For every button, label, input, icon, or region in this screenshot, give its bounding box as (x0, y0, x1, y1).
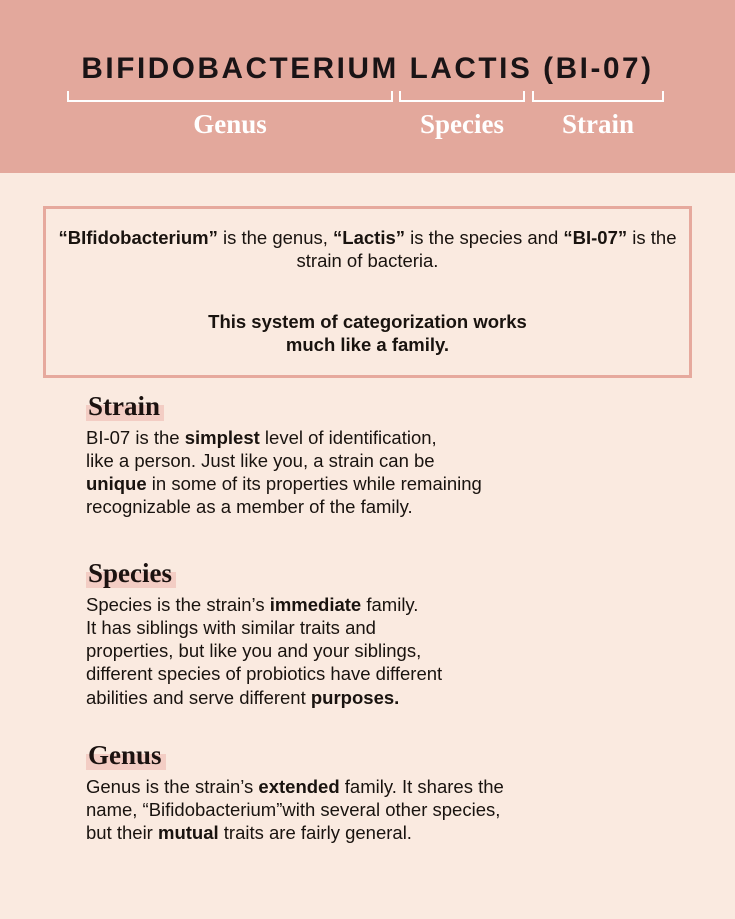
callout-text-2: is the species and (405, 227, 563, 248)
callout-paragraph-secondary: This system of categorization works much… (208, 311, 527, 357)
rank-label-species: Species (399, 109, 525, 140)
callout-term-genus: “BIfidobacterium” (59, 227, 218, 248)
section-body-genus: Genus is the strain’s extended family. I… (86, 775, 686, 844)
heading-text-genus: Genus (88, 740, 162, 770)
section-body-strain: BI-07 is the simplest level of identific… (86, 426, 686, 519)
callout-term-species: “Lactis” (333, 227, 405, 248)
heading-text-strain: Strain (88, 391, 160, 421)
section-heading-species: Species (86, 560, 176, 587)
bracket-strain (532, 91, 664, 102)
bracket-genus (67, 91, 393, 102)
callout-term-strain: “BI-07” (563, 227, 627, 248)
section-body-species: Species is the strain’s immediate family… (86, 593, 686, 709)
definition-callout-box: “BIfidobacterium” is the genus, “Lactis”… (43, 206, 692, 378)
infographic-page: BIFIDOBACTERIUM LACTIS (BI-07) Genus Spe… (0, 0, 735, 919)
rank-label-genus: Genus (67, 109, 393, 140)
section-heading-strain: Strain (86, 393, 164, 420)
section-genus: Genus Genus is the strain’s extended fam… (86, 742, 686, 844)
heading-text-species: Species (88, 558, 172, 588)
section-heading-genus: Genus (86, 742, 166, 769)
callout-paragraph-primary: “BIfidobacterium” is the genus, “Lactis”… (46, 227, 689, 273)
header-band: BIFIDOBACTERIUM LACTIS (BI-07) Genus Spe… (0, 0, 735, 173)
section-strain: Strain BI-07 is the simplest level of id… (86, 393, 686, 519)
section-species: Species Species is the strain’s immediat… (86, 560, 686, 709)
page-title: BIFIDOBACTERIUM LACTIS (BI-07) (4, 52, 732, 86)
rank-label-strain: Strain (532, 109, 664, 140)
callout-text-1: is the genus, (218, 227, 333, 248)
bracket-species (399, 91, 525, 102)
